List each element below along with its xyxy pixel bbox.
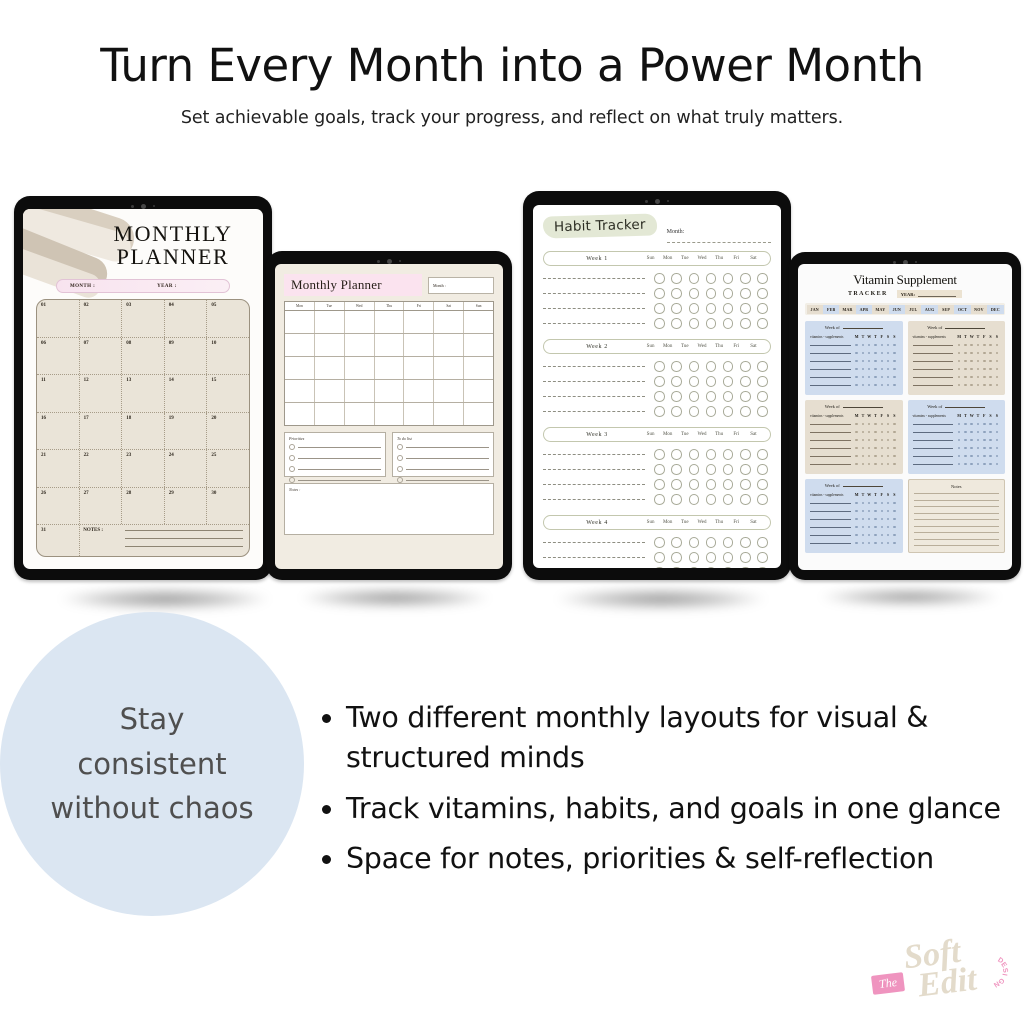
supplement-row[interactable]	[810, 381, 898, 389]
todo-box[interactable]: To do list	[392, 432, 494, 477]
week-card[interactable]: Week ofvitamins - supplementsMTWTFSS	[805, 479, 903, 553]
day-cell[interactable]: 06	[37, 338, 80, 375]
habit-check-circle[interactable]	[651, 391, 668, 402]
dose-dot[interactable]	[891, 502, 897, 505]
supplement-row[interactable]	[913, 420, 1001, 428]
day-cell[interactable]: 25	[207, 450, 249, 487]
habit-check-circle[interactable]	[702, 464, 719, 475]
habit-check-circle[interactable]	[754, 449, 771, 460]
day-cell[interactable]	[375, 311, 405, 333]
day-cell[interactable]: 02	[80, 300, 123, 337]
day-cell[interactable]	[315, 380, 345, 402]
day-cell[interactable]	[315, 357, 345, 379]
week-card[interactable]: Week ofvitamins - supplementsMTWTFSS	[805, 321, 903, 395]
checkbox-icon[interactable]	[397, 477, 403, 483]
supplement-row[interactable]	[913, 373, 1001, 381]
dose-dot[interactable]	[994, 360, 1000, 363]
habit-check-circle[interactable]	[685, 273, 702, 284]
habit-check-circle[interactable]	[651, 303, 668, 314]
habit-check-circle[interactable]	[754, 464, 771, 475]
supplement-row[interactable]	[913, 365, 1001, 373]
supplement-row[interactable]	[810, 357, 898, 365]
dose-dot[interactable]	[891, 439, 897, 442]
day-cell[interactable]	[404, 334, 434, 356]
habit-check-circle[interactable]	[754, 567, 771, 568]
day-cell[interactable]	[375, 403, 405, 425]
habit-check-circle[interactable]	[668, 494, 685, 505]
habit-check-circle[interactable]	[668, 391, 685, 402]
day-cell[interactable]	[464, 311, 493, 333]
day-cell[interactable]: 27	[80, 488, 123, 525]
dose-dot[interactable]	[891, 352, 897, 355]
habit-check-circle[interactable]	[702, 406, 719, 417]
checkbox-line[interactable]	[397, 466, 489, 472]
habit-check-circle[interactable]	[702, 361, 719, 372]
day-cell[interactable]	[404, 311, 434, 333]
habit-check-circle[interactable]	[720, 288, 737, 299]
dose-dot[interactable]	[994, 463, 1000, 466]
habit-check-circle[interactable]	[668, 552, 685, 563]
habit-check-circle[interactable]	[720, 273, 737, 284]
month-chip-dec[interactable]: DEC	[987, 305, 1003, 314]
checkbox-line[interactable]	[289, 466, 381, 472]
habit-check-circle[interactable]	[651, 552, 668, 563]
habit-check-circle[interactable]	[651, 406, 668, 417]
habit-row[interactable]	[543, 565, 771, 568]
habit-name-line	[543, 323, 645, 324]
month-chip-jul[interactable]: JUL	[905, 305, 921, 314]
dose-dot[interactable]	[891, 368, 897, 371]
day-cell[interactable]: 21	[37, 450, 80, 487]
habit-check-circle[interactable]	[668, 449, 685, 460]
day-header: Mon	[659, 432, 676, 437]
day-cell[interactable]: 23	[122, 450, 165, 487]
dose-dot[interactable]	[891, 518, 897, 521]
habit-check-circle[interactable]	[720, 494, 737, 505]
habit-check-circle[interactable]	[737, 361, 754, 372]
habit-row[interactable]	[543, 404, 771, 419]
habit-check-circle[interactable]	[651, 273, 668, 284]
habit-check-circle[interactable]	[685, 391, 702, 402]
habit-check-circle[interactable]	[754, 376, 771, 387]
supplement-row[interactable]	[913, 460, 1001, 468]
day-cell[interactable]: 29	[165, 488, 208, 525]
day-cell[interactable]: 04	[165, 300, 208, 337]
habit-check-circle[interactable]	[651, 449, 668, 460]
day-cell[interactable]: 22	[80, 450, 123, 487]
habit-row[interactable]	[543, 477, 771, 492]
habit-check-circle[interactable]	[685, 464, 702, 475]
supplement-row[interactable]	[810, 523, 898, 531]
supplement-row[interactable]	[810, 515, 898, 523]
checkbox-icon[interactable]	[397, 455, 403, 461]
tablet-habit-tracker[interactable]: Habit Tracker Month: Week 1SunMonTueWedT…	[523, 191, 791, 580]
day-cell[interactable]	[404, 403, 434, 425]
habit-check-circle[interactable]	[651, 479, 668, 490]
habit-check-circle[interactable]	[754, 361, 771, 372]
month-chip-aug[interactable]: AUG	[921, 305, 937, 314]
week-card[interactable]: Week ofvitamins - supplementsMTWTFSS	[805, 400, 903, 474]
day-cell[interactable]	[315, 334, 345, 356]
dose-dot[interactable]	[891, 526, 897, 529]
habit-check-circle[interactable]	[668, 318, 685, 329]
habit-check-circle[interactable]	[651, 464, 668, 475]
habit-check-circle[interactable]	[737, 552, 754, 563]
month-chip-jun[interactable]: JUN	[889, 305, 905, 314]
day-cell[interactable]: 01	[37, 300, 80, 337]
habit-check-circle[interactable]	[754, 406, 771, 417]
habit-check-circle[interactable]	[668, 537, 685, 548]
dose-dot[interactable]	[891, 510, 897, 513]
day-cell[interactable]: 24	[165, 450, 208, 487]
month-chip-sep[interactable]: SEP	[938, 305, 954, 314]
habit-row[interactable]	[543, 301, 771, 316]
day-cell[interactable]: 17	[80, 413, 123, 450]
day-cell[interactable]	[404, 380, 434, 402]
supplement-row[interactable]	[913, 444, 1001, 452]
day-cell[interactable]: 19	[165, 413, 208, 450]
habit-check-circle[interactable]	[720, 567, 737, 568]
day-cell[interactable]: 26	[37, 488, 80, 525]
habit-check-circle[interactable]	[737, 494, 754, 505]
supplement-row[interactable]	[913, 436, 1001, 444]
checkbox-icon[interactable]	[397, 466, 403, 472]
day-cell[interactable]	[404, 357, 434, 379]
supplement-row[interactable]	[810, 444, 898, 452]
day-cell[interactable]	[464, 403, 493, 425]
month-field[interactable]: Month:	[667, 215, 771, 243]
habit-check-circle[interactable]	[720, 406, 737, 417]
supplement-name-line	[810, 353, 851, 354]
habit-check-circle[interactable]	[651, 376, 668, 387]
habit-check-circle[interactable]	[754, 303, 771, 314]
habit-check-circle[interactable]	[754, 552, 771, 563]
habit-check-circle[interactable]	[668, 376, 685, 387]
habit-name-line	[543, 366, 645, 367]
habit-row[interactable]	[543, 447, 771, 462]
habit-check-circle[interactable]	[720, 391, 737, 402]
habit-check-circle[interactable]	[702, 494, 719, 505]
habit-check-circle[interactable]	[720, 479, 737, 490]
supplement-row[interactable]	[810, 531, 898, 539]
notes-area[interactable]: NOTES :	[80, 525, 249, 557]
habit-check-circle[interactable]	[737, 376, 754, 387]
habit-row[interactable]	[543, 286, 771, 301]
day-cell[interactable]	[315, 403, 345, 425]
habit-check-circle[interactable]	[720, 537, 737, 548]
day-cell[interactable]	[285, 380, 315, 402]
habit-check-circle[interactable]	[668, 567, 685, 568]
habit-check-circle[interactable]	[702, 537, 719, 548]
habit-check-circle[interactable]	[685, 449, 702, 460]
habit-check-circle[interactable]	[668, 288, 685, 299]
habit-check-circle[interactable]	[685, 552, 702, 563]
habit-check-circle[interactable]	[668, 361, 685, 372]
dose-dot[interactable]	[891, 423, 897, 426]
day-cell[interactable]	[434, 311, 464, 333]
dose-dot[interactable]	[891, 384, 897, 387]
supplement-row[interactable]	[810, 420, 898, 428]
checkbox-icon[interactable]	[397, 444, 403, 450]
habit-check-circle[interactable]	[737, 303, 754, 314]
month-chip-jan[interactable]: JAN	[807, 305, 823, 314]
supplement-row[interactable]	[913, 428, 1001, 436]
habit-row[interactable]	[543, 462, 771, 477]
checkbox-line[interactable]	[289, 477, 381, 483]
dose-dot[interactable]	[891, 455, 897, 458]
supplement-row[interactable]	[810, 539, 898, 547]
dose-dot[interactable]	[994, 352, 1000, 355]
dose-dot[interactable]	[994, 368, 1000, 371]
habit-check-circle[interactable]	[651, 318, 668, 329]
checkbox-line[interactable]	[397, 455, 489, 461]
habit-check-circle[interactable]	[668, 464, 685, 475]
habit-check-circle[interactable]	[720, 303, 737, 314]
habit-check-circle[interactable]	[737, 537, 754, 548]
habit-check-circle[interactable]	[702, 567, 719, 568]
day-cell[interactable]	[375, 357, 405, 379]
habit-check-circle[interactable]	[702, 376, 719, 387]
supplement-row[interactable]	[810, 365, 898, 373]
month-field[interactable]: Month :	[428, 277, 494, 294]
checkbox-icon[interactable]	[289, 455, 295, 461]
habit-check-circle[interactable]	[754, 494, 771, 505]
supplement-row[interactable]	[810, 349, 898, 357]
habit-check-circle[interactable]	[702, 318, 719, 329]
supplement-row[interactable]	[810, 507, 898, 515]
habit-check-circle[interactable]	[702, 273, 719, 284]
dose-dot[interactable]	[891, 360, 897, 363]
supplement-row[interactable]	[810, 341, 898, 349]
dose-dot[interactable]	[994, 455, 1000, 458]
tablet-monthly-planner-grid[interactable]: Monthly Planner Month : MonTueWedThuFriS…	[266, 251, 512, 580]
habit-check-circle[interactable]	[685, 406, 702, 417]
habit-check-circle[interactable]	[720, 552, 737, 563]
habit-check-circle[interactable]	[702, 288, 719, 299]
dose-dot[interactable]	[994, 376, 1000, 379]
month-chip-oct[interactable]: OCT	[954, 305, 970, 314]
day-cell[interactable]	[285, 334, 315, 356]
dose-dot[interactable]	[994, 431, 1000, 434]
habit-check-circle[interactable]	[685, 361, 702, 372]
day-cell[interactable]: 18	[122, 413, 165, 450]
week-card[interactable]: Week ofvitamins - supplementsMTWTFSS	[908, 321, 1006, 395]
supplement-row[interactable]	[913, 452, 1001, 460]
checkbox-icon[interactable]	[289, 444, 295, 450]
day-cell[interactable]: 20	[207, 413, 249, 450]
habit-row[interactable]	[543, 359, 771, 374]
day-cell[interactable]	[285, 311, 315, 333]
habit-row[interactable]	[543, 389, 771, 404]
habit-check-circle[interactable]	[737, 391, 754, 402]
day-cell[interactable]: 12	[80, 375, 123, 412]
day-cell[interactable]	[345, 311, 375, 333]
habit-check-circle[interactable]	[702, 479, 719, 490]
habit-check-circle[interactable]	[754, 391, 771, 402]
tablet-monthly-planner-serif[interactable]: MONTHLY PLANNER MONTH : YEAR : 010203040…	[14, 196, 272, 580]
checkbox-icon[interactable]	[289, 466, 295, 472]
notes-box[interactable]: Notes :	[284, 483, 494, 535]
habit-check-circle[interactable]	[685, 303, 702, 314]
month-year-field[interactable]: MONTH : YEAR :	[56, 279, 230, 293]
tablet-vitamin-tracker[interactable]: Vitamin Supplement TRACKER YEAR: JANFEBM…	[789, 252, 1021, 580]
checkbox-line[interactable]	[289, 444, 381, 450]
habit-check-circle[interactable]	[702, 449, 719, 460]
supplement-name-line	[810, 361, 851, 362]
habit-check-circle[interactable]	[651, 494, 668, 505]
supplement-row[interactable]	[810, 373, 898, 381]
dose-dot[interactable]	[891, 376, 897, 379]
habit-row[interactable]	[543, 316, 771, 331]
day-cell[interactable]	[434, 380, 464, 402]
supplement-row[interactable]	[810, 428, 898, 436]
dose-dot[interactable]	[994, 447, 1000, 450]
day-cell[interactable]: 10	[207, 338, 249, 375]
dose-dot[interactable]	[994, 423, 1000, 426]
habit-check-circle[interactable]	[737, 567, 754, 568]
habit-check-circle[interactable]	[737, 406, 754, 417]
column-header: vitamins - supplementsMTWTFSS	[913, 413, 1001, 418]
habit-check-circle[interactable]	[685, 318, 702, 329]
habit-check-circle[interactable]	[720, 464, 737, 475]
supplement-row[interactable]	[913, 341, 1001, 349]
habit-check-circle[interactable]	[668, 273, 685, 284]
dose-dot[interactable]	[891, 344, 897, 347]
dose-dot[interactable]	[994, 384, 1000, 387]
habit-check-circle[interactable]	[685, 479, 702, 490]
dose-dot[interactable]	[891, 431, 897, 434]
supplement-row[interactable]	[913, 381, 1001, 389]
habit-check-circle[interactable]	[702, 391, 719, 402]
day-cell[interactable]	[315, 311, 345, 333]
habit-check-circle[interactable]	[668, 406, 685, 417]
day-cell[interactable]	[285, 357, 315, 379]
day-cell[interactable]	[285, 403, 315, 425]
habit-check-circle[interactable]	[737, 318, 754, 329]
day-cell[interactable]	[345, 357, 375, 379]
habit-check-circle[interactable]	[737, 273, 754, 284]
habit-check-circle[interactable]	[685, 376, 702, 387]
habit-check-circle[interactable]	[651, 537, 668, 548]
habit-row[interactable]	[543, 535, 771, 550]
habit-check-circle[interactable]	[754, 288, 771, 299]
habit-check-circle[interactable]	[702, 303, 719, 314]
day-cell[interactable]: 09	[165, 338, 208, 375]
habit-check-circle[interactable]	[720, 361, 737, 372]
habit-row[interactable]	[543, 374, 771, 389]
supplement-row[interactable]	[810, 452, 898, 460]
checkbox-line[interactable]	[289, 455, 381, 461]
habit-check-circle[interactable]	[702, 552, 719, 563]
day-cell[interactable]: 30	[207, 488, 249, 525]
month-selector-strip[interactable]: JANFEBMARAPRMAYJUNJULAUGSEPOCTNOVDEC	[805, 303, 1005, 315]
habit-check-circle[interactable]	[720, 376, 737, 387]
supplement-row[interactable]	[913, 349, 1001, 357]
day-cell[interactable]	[345, 403, 375, 425]
dose-dot[interactable]	[891, 542, 897, 545]
supplement-row[interactable]	[810, 460, 898, 468]
day-cell[interactable]	[345, 334, 375, 356]
dose-dot[interactable]	[891, 463, 897, 466]
habit-check-circle[interactable]	[754, 479, 771, 490]
habit-row[interactable]	[543, 492, 771, 507]
day-cell[interactable]: 14	[165, 375, 208, 412]
notes-card[interactable]: Notes	[908, 479, 1006, 553]
priorities-box[interactable]: Priorities	[284, 432, 386, 477]
dose-dot[interactable]	[891, 447, 897, 450]
day-cell[interactable]	[434, 357, 464, 379]
day-cell[interactable]	[375, 380, 405, 402]
day-cell[interactable]	[345, 380, 375, 402]
dose-dot[interactable]	[994, 344, 1000, 347]
habit-check-circle[interactable]	[754, 318, 771, 329]
habit-check-circle[interactable]	[685, 494, 702, 505]
month-chip-apr[interactable]: APR	[856, 305, 872, 314]
habit-row[interactable]	[543, 550, 771, 565]
supplement-row[interactable]	[810, 499, 898, 507]
supplement-row[interactable]	[810, 436, 898, 444]
year-field[interactable]: YEAR:	[897, 290, 962, 298]
checkbox-line[interactable]	[397, 477, 489, 483]
day-cell[interactable]: 31	[37, 525, 80, 557]
day-cell[interactable]: 05	[207, 300, 249, 337]
month-chip-nov[interactable]: NOV	[971, 305, 987, 314]
habit-check-circle[interactable]	[685, 537, 702, 548]
habit-check-circle[interactable]	[720, 318, 737, 329]
habit-check-circle[interactable]	[651, 288, 668, 299]
habit-row[interactable]	[543, 271, 771, 286]
day-cell[interactable]: 13	[122, 375, 165, 412]
day-cell[interactable]: 15	[207, 375, 249, 412]
habit-check-circle[interactable]	[685, 288, 702, 299]
day-cell[interactable]: 07	[80, 338, 123, 375]
week-row	[285, 357, 493, 380]
day-cell[interactable]: 08	[122, 338, 165, 375]
day-cell[interactable]	[434, 334, 464, 356]
day-cell[interactable]: 16	[37, 413, 80, 450]
habit-check-circle[interactable]	[720, 449, 737, 460]
day-cell[interactable]: 11	[37, 375, 80, 412]
day-cell[interactable]	[464, 357, 493, 379]
checkbox-icon[interactable]	[289, 477, 295, 483]
habit-check-circle[interactable]	[737, 288, 754, 299]
month-chip-feb[interactable]: FEB	[823, 305, 839, 314]
month-chip-mar[interactable]: MAR	[839, 305, 855, 314]
habit-check-circle[interactable]	[668, 303, 685, 314]
week-card[interactable]: Week ofvitamins - supplementsMTWTFSS	[908, 400, 1006, 474]
habit-check-circle[interactable]	[651, 567, 668, 568]
habit-check-circle[interactable]	[754, 537, 771, 548]
habit-check-circle[interactable]	[754, 273, 771, 284]
day-cell[interactable]: 28	[122, 488, 165, 525]
month-chip-may[interactable]: MAY	[872, 305, 888, 314]
day-cell[interactable]	[434, 403, 464, 425]
supplement-row[interactable]	[913, 357, 1001, 365]
day-cell[interactable]	[375, 334, 405, 356]
habit-check-circle[interactable]	[737, 449, 754, 460]
habit-check-circle[interactable]	[737, 464, 754, 475]
dose-dot[interactable]	[994, 439, 1000, 442]
checkbox-line[interactable]	[397, 444, 489, 450]
day-cell[interactable]: 03	[122, 300, 165, 337]
habit-check-circle[interactable]	[685, 567, 702, 568]
habit-check-circle[interactable]	[737, 479, 754, 490]
day-cell[interactable]	[464, 334, 493, 356]
dose-dot[interactable]	[891, 534, 897, 537]
day-cell[interactable]	[464, 380, 493, 402]
habit-check-circle[interactable]	[668, 479, 685, 490]
habit-check-circle[interactable]	[651, 361, 668, 372]
